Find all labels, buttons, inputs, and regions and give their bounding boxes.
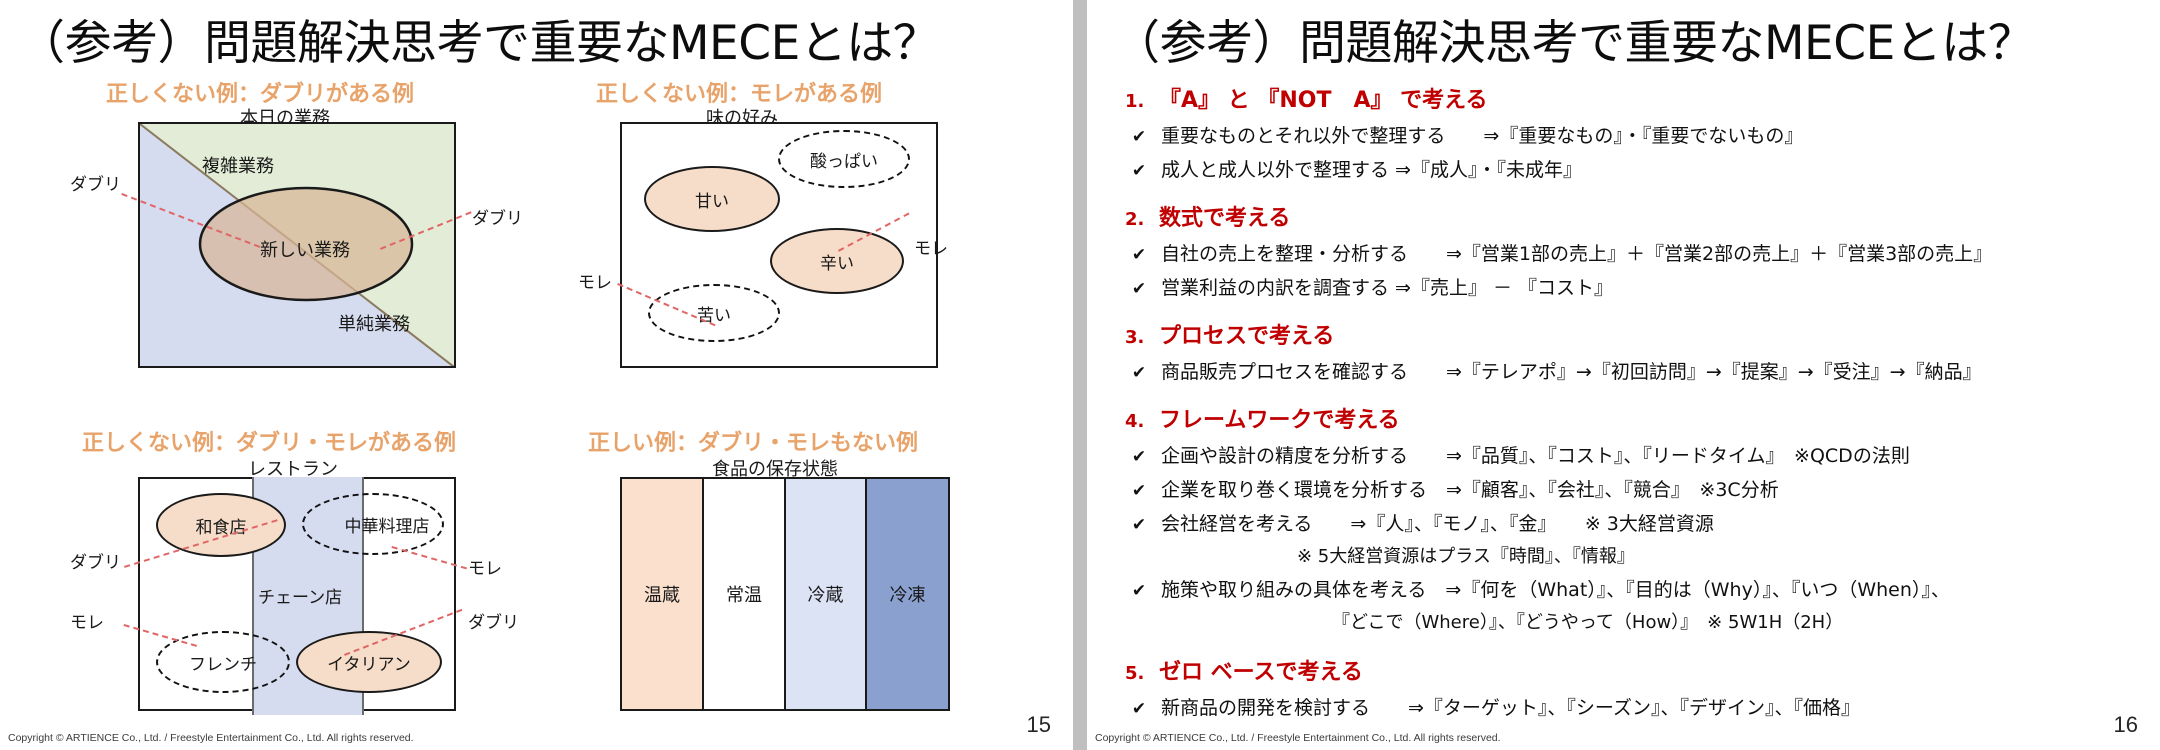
ellipse-japanese-restaurant: 和食店 bbox=[156, 493, 286, 557]
section-4-bullet-4-text: 施策や取り組みの具体を考える ⇒『何を（What）』、『目的は（Why）』、『い… bbox=[1161, 575, 1950, 602]
quadrant-caption-4: 正しい例：ダブリ・モレもない例 bbox=[588, 425, 918, 457]
section-4-bullet-2-text: 企業を取り巻く環境を分析する ⇒『顧客』、『会社』、『競合』 ※3C分析 bbox=[1161, 475, 1779, 502]
section-1-number: 1. bbox=[1117, 91, 1159, 112]
section-4-title: フレームワークで考える bbox=[1159, 402, 1400, 434]
slide-deck: （参考）問題解決思考で重要なMECEとは？ 正しくない例：ダブリがある例 本日の… bbox=[0, 0, 2160, 750]
section-5: 5. ゼロ ベースで考える bbox=[1117, 654, 2147, 686]
food-column-chilled-label: 冷蔵 bbox=[808, 581, 844, 607]
check-icon: ✔ bbox=[1117, 515, 1161, 535]
food-column-chilled: 冷蔵 bbox=[786, 479, 867, 709]
mece-method-list: 1. 『A』 と 『NOT A』 で考える ✔ 重要なものとそれ以外で整理する … bbox=[1117, 80, 2147, 720]
food-column-room: 常温 bbox=[704, 479, 786, 709]
section-4-bullet-4: ✔ 施策や取り組みの具体を考える ⇒『何を（What）』、『目的は（Why）』、… bbox=[1117, 575, 2147, 602]
check-icon: ✔ bbox=[1117, 699, 1161, 719]
section-3: 3. プロセスで考える bbox=[1117, 318, 2147, 350]
section-4-bullet-3-text: 会社経営を考える ⇒『人』、『モノ』、『金』 ※ 3大経営資源 bbox=[1161, 509, 1714, 536]
ellipse-japanese-restaurant-label: 和食店 bbox=[196, 513, 247, 538]
check-icon: ✔ bbox=[1117, 127, 1161, 147]
ellipse-sour: 酸っぱい bbox=[778, 130, 910, 188]
page-title: （参考）問題解決思考で重要なMECEとは？ bbox=[18, 4, 939, 73]
quadrant-caption-3: 正しくない例：ダブリ・モレがある例 bbox=[82, 425, 456, 457]
section-5-title: ゼロ ベースで考える bbox=[1159, 654, 1363, 686]
check-icon: ✔ bbox=[1117, 481, 1161, 501]
ellipse-sour-label: 酸っぱい bbox=[810, 147, 878, 172]
diagram-taste: 甘い 酸っぱい 辛い 苦い bbox=[620, 122, 938, 368]
footer-copyright-16: Copyright © ARTIENCE Co., Ltd. / Freesty… bbox=[1095, 732, 1501, 744]
section-2: 2. 数式で考える bbox=[1117, 200, 2147, 232]
section-2-bullet-1-text: 自社の売上を整理・分析する ⇒『営業1部の売上』＋『営業2部の売上』＋『営業3部… bbox=[1161, 239, 1992, 266]
section-1-bullet-2: ✔ 成人と成人以外で整理する ⇒『成人』・『未成年』 bbox=[1117, 155, 2147, 182]
food-column-warm-label: 温蔵 bbox=[644, 581, 680, 607]
slide-16: （参考）問題解決思考で重要なMECEとは？ 1. 『A』 と 『NOT A』 で… bbox=[1087, 0, 2160, 750]
page-title-16: （参考）問題解決思考で重要なMECEとは？ bbox=[1113, 4, 2034, 73]
check-icon: ✔ bbox=[1117, 447, 1161, 467]
section-4-bullet-3: ✔ 会社経営を考える ⇒『人』、『モノ』、『金』 ※ 3大経営資源 bbox=[1117, 509, 2147, 536]
ellipse-sweet: 甘い bbox=[644, 166, 780, 232]
ellipse-spicy-label: 辛い bbox=[820, 249, 854, 274]
annotation-daburi-3a: ダブリ bbox=[70, 548, 121, 573]
annotation-daburi-1a: ダブリ bbox=[70, 170, 121, 195]
section-5-bullet-1-text: 新商品の開発を検討する ⇒『ターゲット』、『シーズン』、『デザイン』、『価格』 bbox=[1161, 693, 1860, 720]
annotation-daburi-3d: ダブリ bbox=[468, 608, 519, 633]
ellipse-italian-restaurant-label: イタリアン bbox=[327, 650, 411, 675]
ellipse-sweet-label: 甘い bbox=[695, 187, 729, 212]
ellipse-bitter: 苦い bbox=[648, 284, 780, 342]
ellipse-bitter-label: 苦い bbox=[697, 301, 731, 326]
ellipse-chinese-restaurant: 中華料理店 bbox=[302, 493, 444, 555]
ellipse-french-restaurant-label: フレンチ bbox=[189, 650, 257, 675]
section-1-bullet-2-text: 成人と成人以外で整理する ⇒『成人』・『未成年』 bbox=[1161, 155, 1582, 182]
check-icon: ✔ bbox=[1117, 581, 1161, 601]
food-column-room-label: 常温 bbox=[726, 581, 762, 607]
region-label-complex: 複雑業務 bbox=[202, 152, 274, 178]
check-icon: ✔ bbox=[1117, 161, 1161, 181]
slide-15: （参考）問題解決思考で重要なMECEとは？ 正しくない例：ダブリがある例 本日の… bbox=[0, 0, 1073, 750]
section-3-number: 3. bbox=[1117, 327, 1159, 348]
section-4-note-2: 『どこで（Where）』、『どうやって（How）』 ※ 5W1H（2H） bbox=[1117, 608, 2147, 634]
check-icon: ✔ bbox=[1117, 279, 1161, 299]
band-chain-store-label: チェーン店 bbox=[258, 583, 342, 608]
section-1-bullet-1: ✔ 重要なものとそれ以外で整理する ⇒『重要なもの』・『重要でないもの』 bbox=[1117, 121, 2147, 148]
page-number-16: 16 bbox=[2114, 712, 2138, 738]
section-3-bullet-1: ✔ 商品販売プロセスを確認する ⇒『テレアポ』→『初回訪問』→『提案』→『受注』… bbox=[1117, 357, 2147, 384]
check-icon: ✔ bbox=[1117, 245, 1161, 265]
ellipse-spicy: 辛い bbox=[770, 228, 904, 294]
section-5-number: 5. bbox=[1117, 663, 1159, 684]
diagram-food-storage: 温蔵 常温 冷蔵 冷凍 bbox=[620, 477, 950, 711]
food-column-warm: 温蔵 bbox=[622, 479, 704, 709]
section-4-bullet-1-text: 企画や設計の精度を分析する ⇒『品質』、『コスト』、『リードタイム』 ※QCDの… bbox=[1161, 441, 1910, 468]
region-label-simple: 単純業務 bbox=[338, 310, 410, 336]
annotation-daburi-1b: ダブリ bbox=[472, 204, 523, 229]
region-label-new-task: 新しい業務 bbox=[260, 236, 350, 262]
ellipse-chinese-restaurant-label: 中華料理店 bbox=[345, 512, 430, 537]
page-number-15: 15 bbox=[1027, 712, 1051, 738]
section-2-title: 数式で考える bbox=[1159, 200, 1290, 232]
section-4: 4. フレームワークで考える bbox=[1117, 402, 2147, 434]
section-4-bullet-2: ✔ 企業を取り巻く環境を分析する ⇒『顧客』、『会社』、『競合』 ※3C分析 bbox=[1117, 475, 2147, 502]
footer-copyright-15: Copyright © ARTIENCE Co., Ltd. / Freesty… bbox=[8, 732, 414, 744]
section-1: 1. 『A』 と 『NOT A』 で考える bbox=[1117, 82, 2147, 114]
section-4-bullet-1: ✔ 企画や設計の精度を分析する ⇒『品質』、『コスト』、『リードタイム』 ※QC… bbox=[1117, 441, 2147, 468]
annotation-more-3c: モレ bbox=[468, 554, 502, 579]
section-2-bullet-2-text: 営業利益の内訳を調査する ⇒『売上』 － 『コスト』 bbox=[1161, 273, 1613, 300]
check-icon: ✔ bbox=[1117, 363, 1161, 383]
food-column-frozen: 冷凍 bbox=[867, 479, 948, 709]
food-column-frozen-label: 冷凍 bbox=[890, 581, 926, 607]
section-4-number: 4. bbox=[1117, 411, 1159, 432]
section-2-bullet-1: ✔ 自社の売上を整理・分析する ⇒『営業1部の売上』＋『営業2部の売上』＋『営業… bbox=[1117, 239, 2147, 266]
annotation-more-2b: モレ bbox=[578, 268, 612, 293]
diagram-restaurant: チェーン店 和食店 中華料理店 フレンチ イタリアン bbox=[138, 477, 456, 711]
section-2-number: 2. bbox=[1117, 209, 1159, 230]
section-1-bullet-1-text: 重要なものとそれ以外で整理する ⇒『重要なもの』・『重要でないもの』 bbox=[1161, 121, 1803, 148]
annotation-more-3b: モレ bbox=[70, 608, 104, 633]
ellipse-italian-restaurant: イタリアン bbox=[296, 631, 442, 693]
section-3-title: プロセスで考える bbox=[1159, 318, 1334, 350]
section-4-note-1: ※ 5大経営資源はプラス『時間』、『情報』 bbox=[1117, 542, 2147, 568]
diagram-today-tasks: 複雑業務 単純業務 新しい業務 bbox=[138, 122, 456, 368]
annotation-more-2a: モレ bbox=[914, 234, 948, 259]
section-2-bullet-2: ✔ 営業利益の内訳を調査する ⇒『売上』 － 『コスト』 bbox=[1117, 273, 2147, 300]
section-5-bullet-1: ✔ 新商品の開発を検討する ⇒『ターゲット』、『シーズン』、『デザイン』、『価格… bbox=[1117, 693, 2147, 720]
section-3-bullet-1-text: 商品販売プロセスを確認する ⇒『テレアポ』→『初回訪問』→『提案』→『受注』→『… bbox=[1161, 357, 1982, 384]
section-1-title: 『A』 と 『NOT A』 で考える bbox=[1159, 82, 1488, 114]
